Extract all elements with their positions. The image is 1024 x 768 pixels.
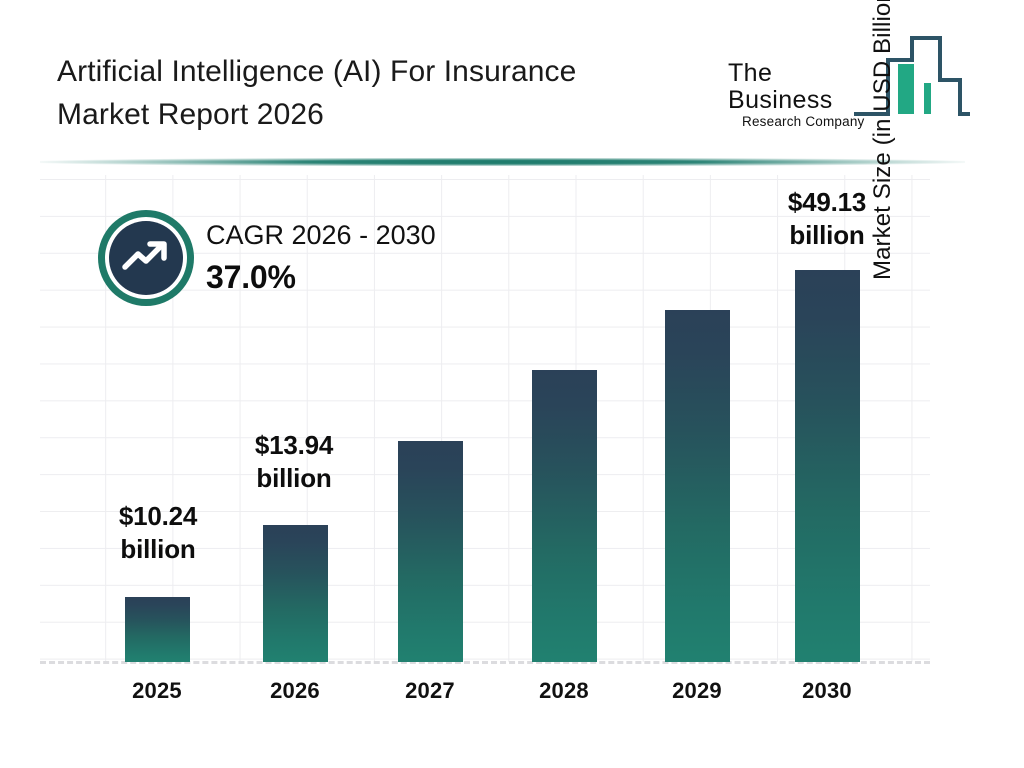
- bar-2025[interactable]: [125, 597, 190, 662]
- x-tick-2028: 2028: [509, 678, 619, 704]
- value-label-2026-unit: billion: [234, 462, 354, 495]
- x-tick-2030: 2030: [772, 678, 882, 704]
- value-label-2025-unit: billion: [102, 533, 214, 566]
- x-tick-2025: 2025: [102, 678, 212, 704]
- value-label-2026-amount: $13.94: [234, 429, 354, 462]
- x-tick-2026: 2026: [240, 678, 350, 704]
- bar-2030[interactable]: [795, 270, 860, 662]
- cagr-label: CAGR 2026 - 2030: [206, 218, 536, 252]
- trend-up-arrow-icon: [109, 221, 183, 295]
- x-tick-2027: 2027: [375, 678, 485, 704]
- y-axis-title: Market Size (in USD Billion): [869, 0, 897, 280]
- value-label-2026: $13.94 billion: [234, 429, 354, 495]
- value-label-2025: $10.24 billion: [102, 500, 214, 566]
- bar-2026[interactable]: [263, 525, 328, 662]
- x-tick-2029: 2029: [642, 678, 752, 704]
- bar-2029[interactable]: [665, 310, 730, 662]
- cagr-badge: [98, 210, 194, 306]
- value-label-2025-amount: $10.24: [102, 500, 214, 533]
- cagr-text-block: CAGR 2026 - 2030 37.0%: [206, 218, 536, 298]
- chart-page: Artificial Intelligence (AI) For Insuran…: [0, 0, 1024, 768]
- bar-2027[interactable]: [398, 441, 463, 662]
- bar-2028[interactable]: [532, 370, 597, 662]
- cagr-value: 37.0%: [206, 256, 536, 298]
